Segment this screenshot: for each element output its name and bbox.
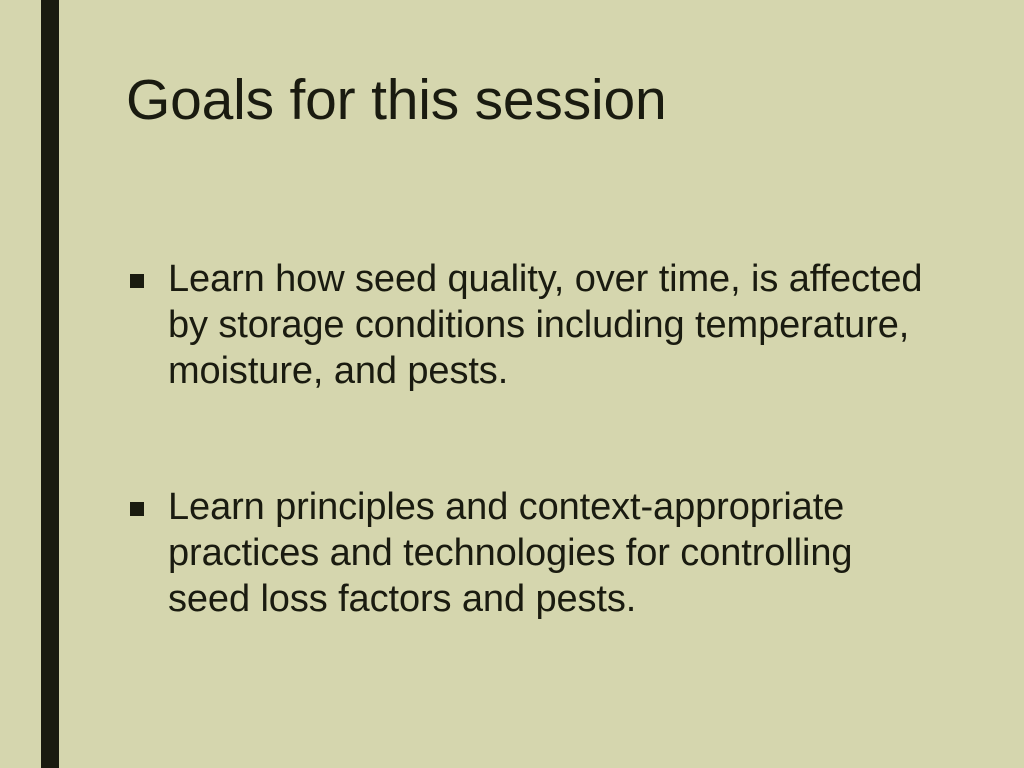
list-item: Learn how seed quality, over time, is af… (126, 256, 926, 394)
page-title: Goals for this session (126, 69, 956, 131)
list-item-text: Learn principles and context-appropriate… (168, 484, 926, 622)
bullet-list: Learn how seed quality, over time, is af… (126, 256, 926, 622)
filled-square-bullet-icon (130, 502, 144, 516)
filled-square-bullet-icon (130, 274, 144, 288)
left-accent-bar (41, 0, 59, 768)
presentation-slide: Goals for this session Learn how seed qu… (0, 0, 1024, 768)
list-item: Learn principles and context-appropriate… (126, 484, 926, 622)
list-item-text: Learn how seed quality, over time, is af… (168, 256, 926, 394)
